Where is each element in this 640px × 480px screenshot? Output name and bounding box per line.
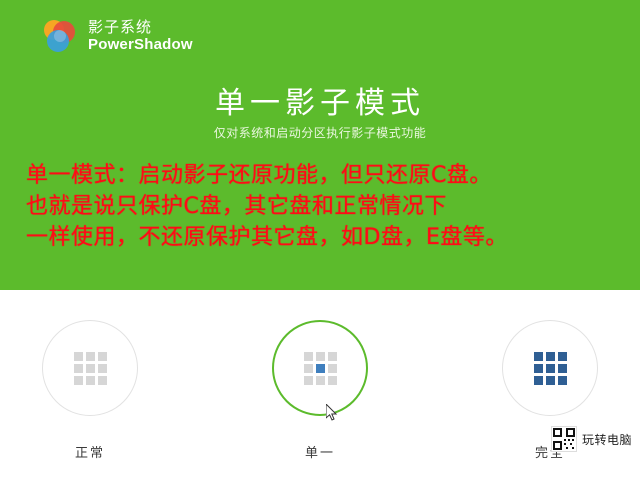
annotation-text: 单一模式：启动影子还原功能，但只还原C盘。 也就是说只保护C盘，其它盘和正常情况… [26,160,626,253]
grid-cell [304,352,313,361]
grid-cell [74,376,83,385]
mode-circle-single[interactable] [272,320,368,416]
grid-cell-highlighted [534,364,543,373]
grid-cell [328,364,337,373]
grid-cell [328,352,337,361]
grid-cell [86,376,95,385]
mode-circle-full[interactable] [502,320,598,416]
mode-label-single: 单一 [230,442,410,461]
grid-9-cells-icon [534,352,567,385]
grid-cell-highlighted [546,376,555,385]
app-window: 影子系统 PowerShadow 单一影子模式 仅对系统和启动分区执行影子模式功… [0,0,640,480]
mode-label-normal: 正常 [0,442,180,461]
grid-cell-highlighted [316,364,325,373]
watermark: 玩转电脑 [551,426,632,452]
brand-text-block: 影子系统 PowerShadow [88,19,193,54]
grid-cell-highlighted [558,364,567,373]
grid-cell [74,364,83,373]
qr-code-icon [551,426,577,452]
mode-option-single[interactable]: 单一 [230,320,410,461]
mode-option-normal[interactable]: 正常 [0,320,180,461]
grid-cell [86,364,95,373]
grid-cell [316,376,325,385]
grid-cell-highlighted [534,376,543,385]
brand-name-cn: 影子系统 [88,19,193,36]
shadow-sphere-logo-icon [40,16,80,56]
grid-cell-highlighted [558,352,567,361]
page-title: 单一影子模式 [0,78,640,122]
grid-9-cells-icon [74,352,107,385]
grid-cell [328,376,337,385]
grid-cell-highlighted [546,352,555,361]
header-panel: 影子系统 PowerShadow 单一影子模式 仅对系统和启动分区执行影子模式功… [0,0,640,290]
mouse-pointer-icon [326,404,338,422]
mode-selector-row: 正常 单一 [0,290,640,480]
grid-cell [98,364,107,373]
grid-cell [98,352,107,361]
brand-logo-block: 影子系统 PowerShadow [40,16,193,56]
watermark-text: 玩转电脑 [582,431,632,448]
page-subtitle: 仅对系统和启动分区执行影子模式功能 [0,124,640,141]
grid-cell-highlighted [534,352,543,361]
grid-cell [74,352,83,361]
grid-cell [316,352,325,361]
grid-cell-highlighted [558,376,567,385]
mode-circle-normal[interactable] [42,320,138,416]
grid-cell-highlighted [546,364,555,373]
brand-name-en: PowerShadow [88,36,193,53]
grid-cell [98,376,107,385]
grid-cell [86,352,95,361]
grid-9-cells-icon [304,352,337,385]
grid-cell [304,364,313,373]
grid-cell [304,376,313,385]
